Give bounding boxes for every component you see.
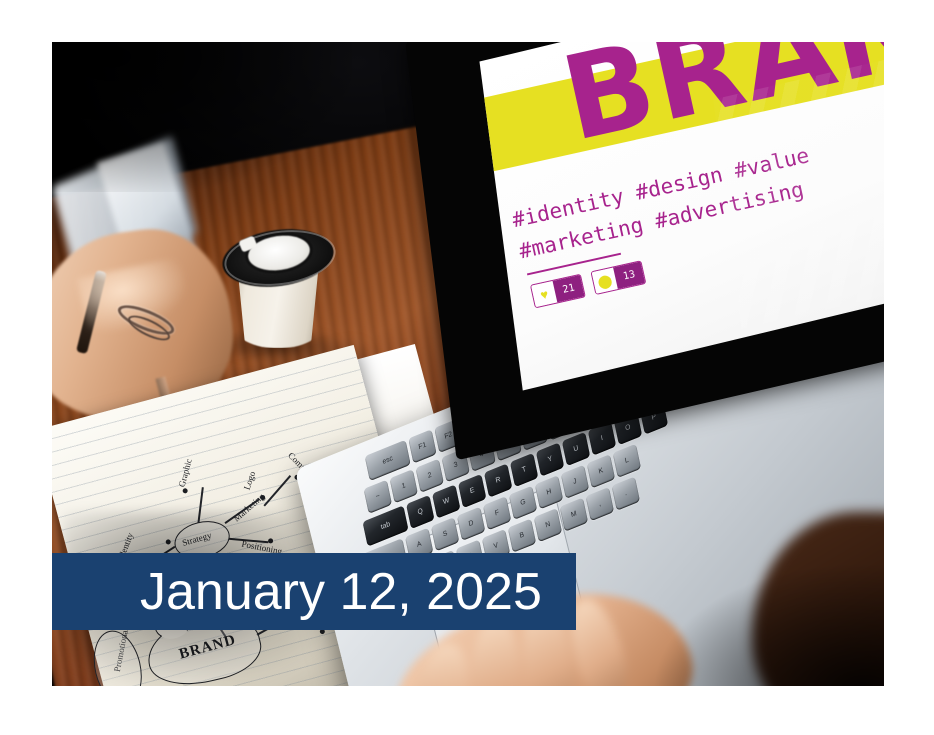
key-r[interactable]: R <box>484 463 512 497</box>
key-[interactable]: . <box>612 477 640 511</box>
key-[interactable]: , <box>586 487 614 521</box>
mindmap-node-dot <box>182 488 188 494</box>
key-1[interactable]: 1 <box>390 469 418 503</box>
key-j[interactable]: J <box>561 465 589 499</box>
key-h[interactable]: H <box>535 475 563 509</box>
page-canvas: Strategy Graphic Logo Competition Market… <box>0 0 934 735</box>
key-[interactable]: ~ <box>364 480 392 514</box>
key-m[interactable]: M <box>560 498 588 532</box>
key-l[interactable]: L <box>613 444 641 478</box>
key-b[interactable]: B <box>508 518 536 552</box>
vignette-bottom-right <box>652 562 884 686</box>
like-badge[interactable]: ♥ 21 <box>530 274 586 309</box>
mindmap-branch-label: Graphic <box>177 458 194 489</box>
engagement-badges: ♥ 21 ⬤ 13 <box>530 260 646 308</box>
post-date: January 12, 2025 <box>140 566 542 618</box>
key-n[interactable]: N <box>534 508 562 542</box>
key-g[interactable]: G <box>509 486 537 520</box>
star-badge[interactable]: ⬤ 13 <box>590 260 646 295</box>
key-2[interactable]: 2 <box>415 459 443 493</box>
like-count: 21 <box>553 275 585 303</box>
mindmap-branch-label: Logo <box>242 470 258 491</box>
key-q[interactable]: Q <box>406 495 434 529</box>
mindmap-edge <box>263 475 290 506</box>
key-w[interactable]: W <box>432 484 460 518</box>
key-k[interactable]: K <box>587 454 615 488</box>
brand-headline: BRAND <box>554 42 884 159</box>
key-s[interactable]: S <box>431 517 459 551</box>
key-y[interactable]: Y <box>536 442 564 476</box>
key-d[interactable]: D <box>457 507 485 541</box>
star-count: 13 <box>613 261 645 289</box>
key-f[interactable]: F <box>483 496 511 530</box>
key-e[interactable]: E <box>458 474 486 508</box>
hashtag-block: #identity #design #value #marketing #adv… <box>509 140 819 267</box>
key-u[interactable]: U <box>562 432 590 466</box>
date-banner: January 12, 2025 <box>52 553 576 630</box>
key-f1[interactable]: F1 <box>408 429 436 463</box>
key-t[interactable]: T <box>510 453 538 487</box>
vignette-top-left <box>52 42 352 192</box>
